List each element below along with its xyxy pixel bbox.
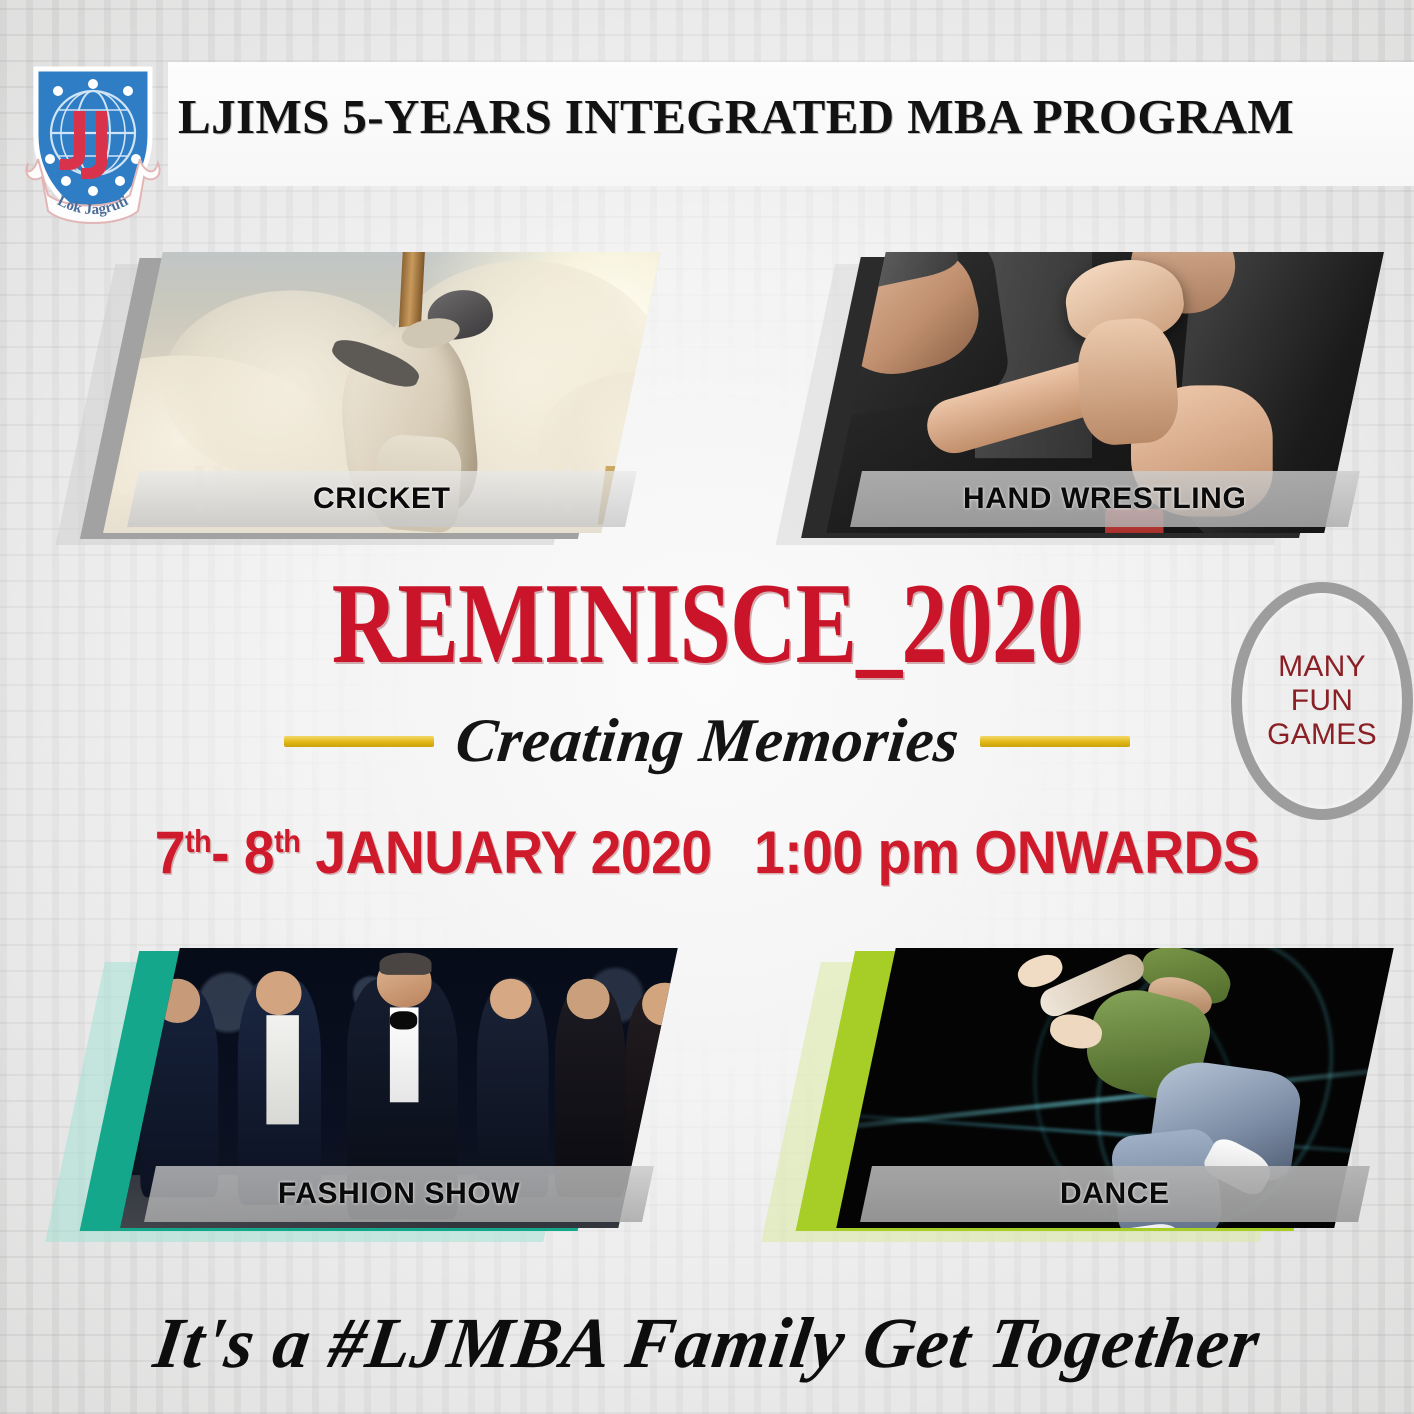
many-fun-games-badge: MANY FUN GAMES [1231, 582, 1413, 820]
event-card-dance[interactable]: DANCE [866, 948, 1364, 1228]
date-day-start: 7 [155, 819, 185, 886]
card-label-hand-wrestling: HAND WRESTLING [850, 471, 1360, 527]
gold-bar-right [980, 736, 1130, 747]
event-time: 1:00 pm ONWARDS [754, 819, 1259, 886]
lj-lok-jagruti-kendra-logo: Lok Jagruti Kendra [18, 55, 168, 230]
gold-bar-left [284, 736, 434, 747]
card-label-fashion-show: FASHION SHOW [144, 1166, 654, 1222]
badge-line-3: GAMES [1267, 718, 1377, 752]
page-title: LJIMS 5-YEARS INTEGRATED MBA PROGRAM [178, 88, 1294, 145]
event-tagline-row: Creating Memories [0, 706, 1414, 777]
event-card-fashion-show[interactable]: FASHION SHOW [150, 948, 648, 1228]
event-card-cricket[interactable]: CRICKET [133, 252, 631, 533]
footer-tagline: It's a #LJMBA Family Get Together [0, 1302, 1414, 1385]
date-month-year: JANUARY 2020 [315, 819, 711, 886]
card-label-dance: DANCE [860, 1166, 1370, 1222]
badge-line-2: FUN [1291, 684, 1354, 718]
event-name: REMINISCE_2020 [141, 566, 1272, 681]
event-date-time: 7th- 8th JANUARY 20201:00 pm ONWARDS [57, 818, 1358, 887]
badge-line-1: MANY [1278, 650, 1366, 684]
event-tagline: Creating Memories [452, 706, 962, 777]
card-label-cricket: CRICKET [127, 471, 637, 527]
date-sup-2: th [274, 824, 300, 859]
event-poster: Lok Jagruti Kendra LJIMS 5-YEARS INTEGRA… [0, 0, 1414, 1414]
date-sup-1: th [185, 824, 211, 859]
event-card-hand-wrestling[interactable]: HAND WRESTLING [856, 252, 1354, 533]
date-day-end: - 8 [211, 819, 274, 886]
